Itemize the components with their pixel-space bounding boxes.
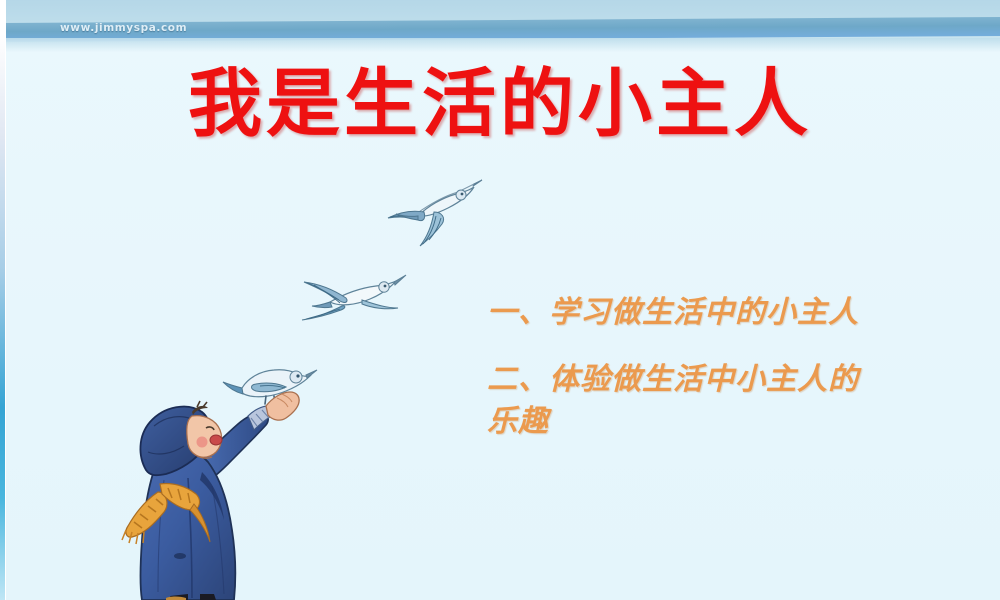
bird-upper-icon: [378, 168, 488, 254]
child-figure-illustration: [96, 360, 346, 600]
banner-fade: [0, 38, 1000, 52]
page-title: 我是生活的小主人: [0, 66, 1000, 144]
watermark-text: www.jimmyspa.com: [60, 22, 187, 34]
slide-canvas: www.jimmyspa.com 我是生活的小主人 一、学习做生活中的小主人 二…: [0, 0, 1000, 600]
bird-middle-icon: [296, 264, 408, 336]
bullet-item-2: 二、体验做生活中小主人的 乐趣: [487, 359, 957, 442]
bullet-list: 一、学习做生活中的小主人 二、体验做生活中小主人的 乐趣: [487, 292, 987, 442]
bullet-item-1: 一、学习做生活中的小主人: [487, 292, 987, 333]
